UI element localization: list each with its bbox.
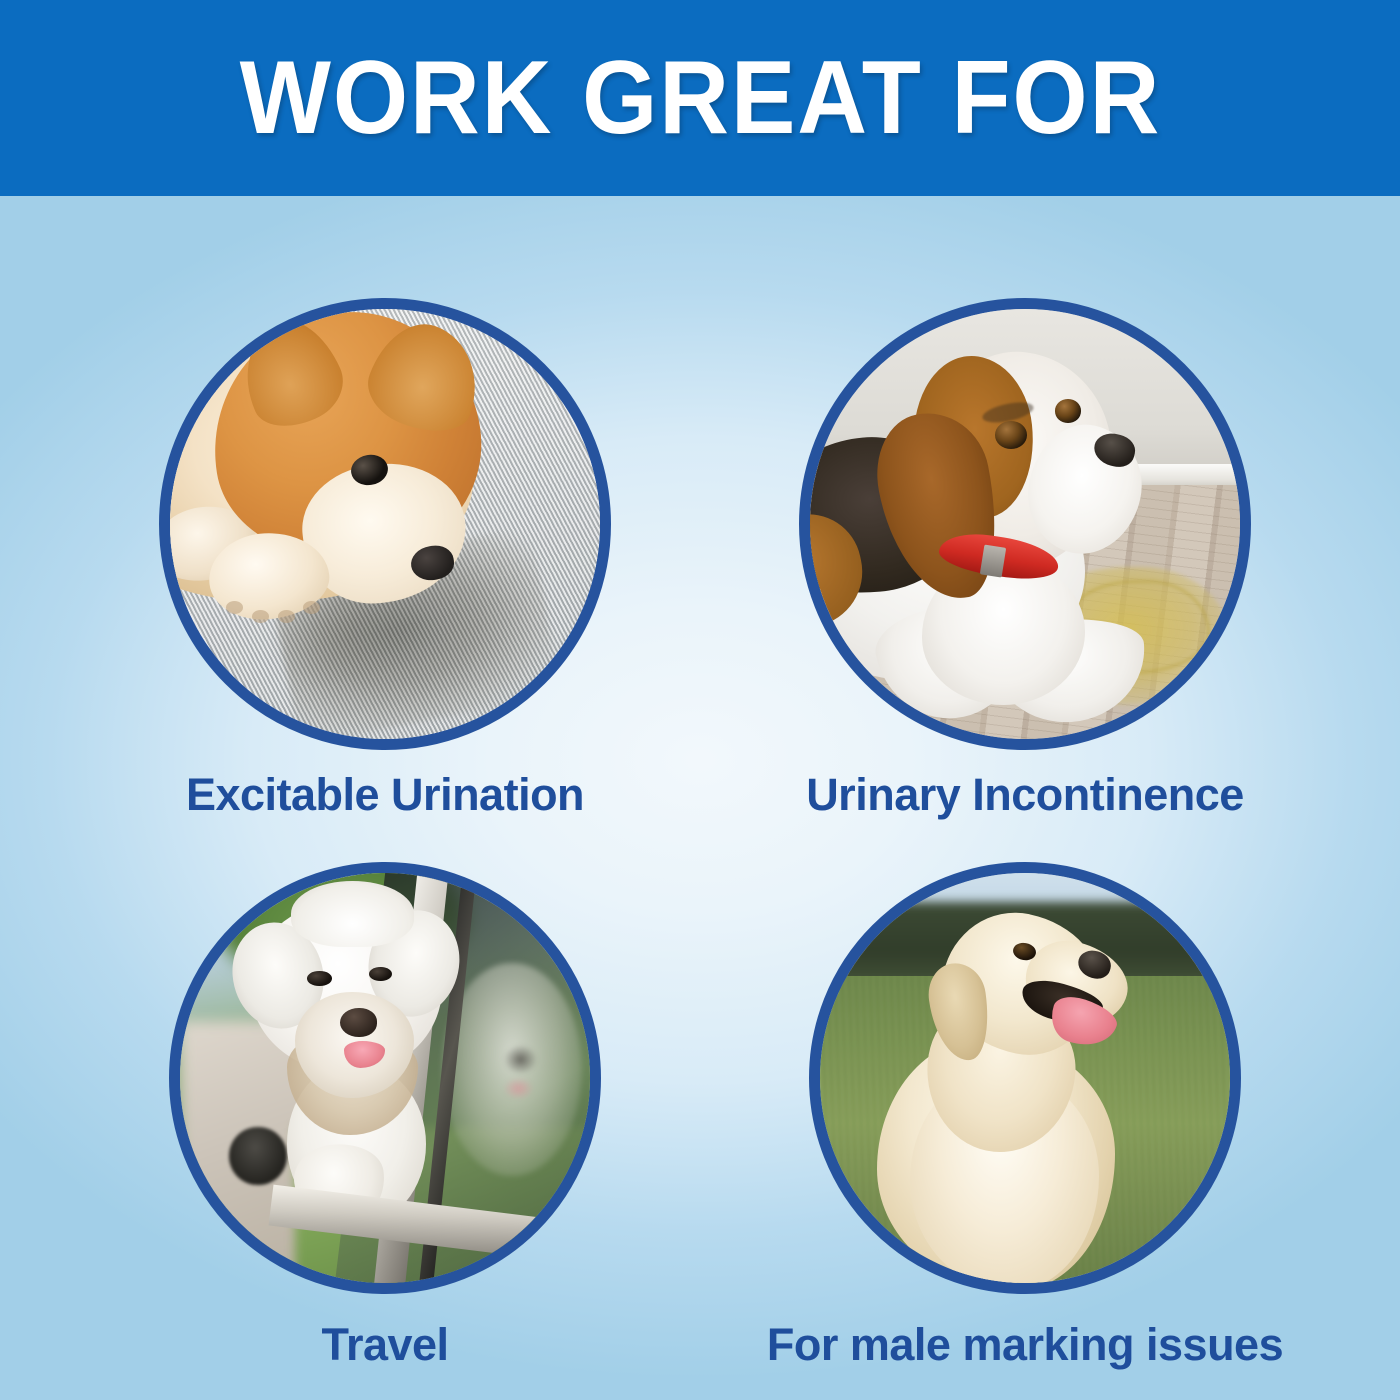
page-title: WORK GREAT FOR <box>239 46 1161 150</box>
circle-frame <box>159 298 611 750</box>
card-caption: Urinary Incontinence <box>758 770 1292 820</box>
benefit-card-male-marking: For male marking issues <box>758 862 1292 1400</box>
benefit-card-travel: Travel <box>118 862 652 1400</box>
shiba-puppy-on-stained-carpet-photo <box>170 309 600 739</box>
circle-frame <box>809 862 1241 1294</box>
card-caption: Travel <box>118 1320 652 1370</box>
benefit-card-urinary-incontinence: Urinary Incontinence <box>758 298 1292 843</box>
header-banner: WORK GREAT FOR <box>0 0 1400 196</box>
infographic-page: WORK GREAT FOR <box>0 0 1400 1400</box>
white-dog-in-car-window-photo <box>180 873 590 1283</box>
golden-retriever-in-grass-photo <box>820 873 1230 1283</box>
beagle-with-red-collar-on-wood-floor-photo <box>810 309 1240 739</box>
circle-frame <box>799 298 1251 750</box>
card-caption: For male marking issues <box>758 1320 1292 1370</box>
circle-frame <box>169 862 601 1294</box>
benefit-card-excitable-urination: Excitable Urination <box>118 298 652 843</box>
card-caption: Excitable Urination <box>118 770 652 820</box>
